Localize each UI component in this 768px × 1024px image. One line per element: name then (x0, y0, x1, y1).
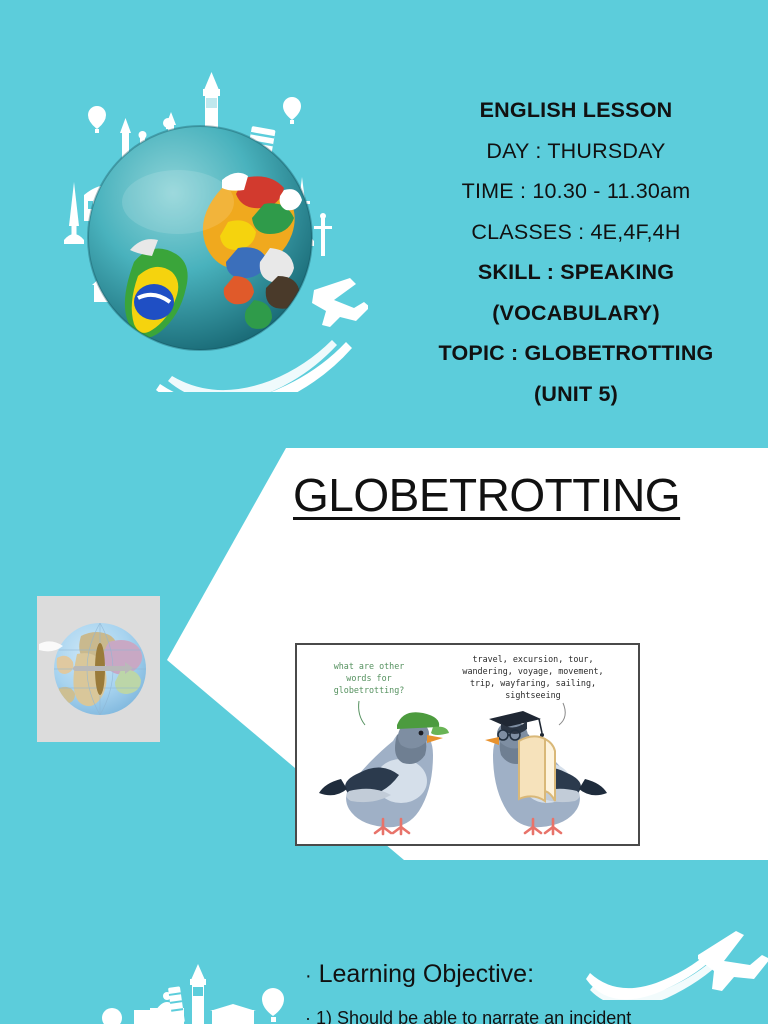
lesson-line-title: ENGLISH LESSON (404, 90, 748, 131)
city-skyline-silhouette-icon (40, 960, 320, 1024)
objective-item-text: 1) Should be able to narrate an incident (316, 1008, 631, 1024)
svg-text:words for: words for (346, 673, 391, 683)
lesson-info-block: ENGLISH LESSON DAY : THURSDAY TIME : 10.… (404, 90, 748, 414)
globe-photo-thumbnail (37, 596, 160, 742)
lesson-line-classes: CLASSES : 4E,4F,4H (404, 212, 748, 253)
lesson-line-day: DAY : THURSDAY (404, 131, 748, 172)
pigeon-vocabulary-comic: what are other words for globetrotting? … (295, 643, 640, 846)
lesson-line-vocabulary: (VOCABULARY) (404, 293, 748, 334)
svg-text:trip, wayfaring, sailing,: trip, wayfaring, sailing, (470, 678, 596, 688)
lesson-line-unit: (UNIT 5) (404, 374, 748, 415)
page-title: GLOBETROTTING (293, 468, 680, 522)
svg-text:wandering, voyage, movement,: wandering, voyage, movement, (462, 666, 603, 676)
lesson-line-time: TIME : 10.30 - 11.30am (404, 171, 748, 212)
objective-heading-text: Learning Objective: (319, 960, 534, 988)
slide: ENGLISH LESSON DAY : THURSDAY TIME : 10.… (0, 0, 768, 1024)
lesson-line-skill: SKILL : SPEAKING (404, 252, 748, 293)
lesson-line-topic: TOPIC : GLOBETROTTING (404, 333, 748, 374)
objective-item-1: · 1) Should be able to narrate an incide… (305, 1008, 631, 1024)
svg-text:sightseeing: sightseeing (505, 690, 560, 700)
svg-text:what are other: what are other (334, 661, 405, 671)
globe-with-landmarks-icon (38, 62, 368, 392)
svg-text:travel, excursion, tour,: travel, excursion, tour, (472, 654, 593, 664)
svg-text:globetrotting?: globetrotting? (334, 685, 405, 695)
airplane-trail-icon (586, 925, 768, 1000)
learning-objective-heading: · Learning Objective: (305, 960, 534, 989)
